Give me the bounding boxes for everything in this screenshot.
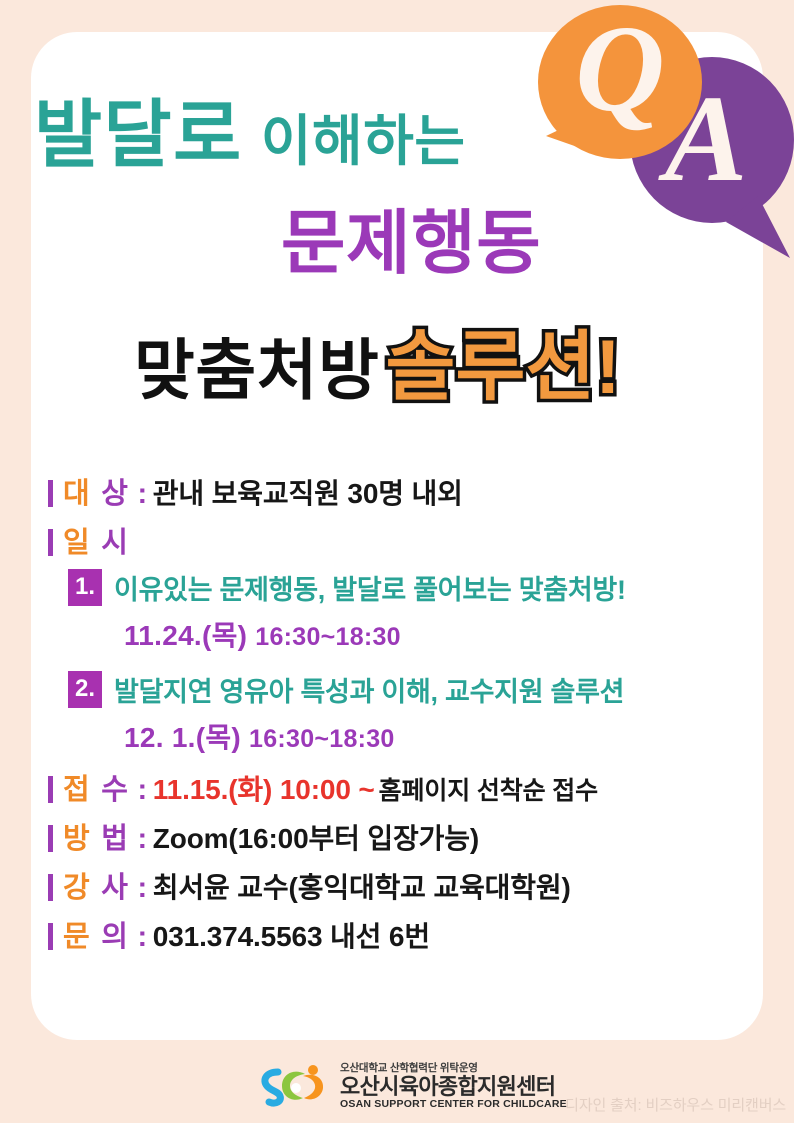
info-label-contact: 문의: — [63, 913, 153, 955]
info-row-method: 방법: Zoom(16:00부터 입장가능) — [0, 815, 794, 857]
info-row-target: 대상: 관내 보육교직원 30명 내외 — [0, 470, 794, 512]
title-word-solution: 솔루션! — [386, 325, 621, 410]
bullet-bar-icon — [48, 825, 53, 852]
session-1-datetime: 11.24.(목) 16:30~18:30 — [68, 614, 794, 654]
session-1-date: 11.24.(목) — [124, 620, 247, 651]
session-item-2: 2. 발달지연 영유아 특성과 이해, 교수지원 솔루션 12. 1.(목) 1… — [0, 670, 794, 756]
session-2-datetime: 12. 1.(목) 16:30~18:30 — [68, 716, 794, 756]
info-block: 대상: 관내 보육교직원 30명 내외 일시 1. 이유있는 문제행동, 발달로… — [0, 470, 794, 962]
info-value-registration-date: 11.15.(화) 10:00 ~ — [153, 768, 375, 808]
bullet-bar-icon — [48, 874, 53, 901]
title-word-baldallo: 발달로 — [34, 93, 243, 176]
bullet-bar-icon — [48, 529, 53, 556]
title-line-3: 맞춤처방솔루션! — [134, 330, 621, 406]
info-value-method: Zoom(16:00부터 입장가능) — [153, 817, 479, 857]
logo-text-group: 오산대학교 산학협력단 위탁운영 오산시육아종합지원센터 OSAN SUPPOR… — [340, 1063, 567, 1109]
info-value-target: 관내 보육교직원 30명 내외 — [153, 472, 463, 512]
session-2-title: 발달지연 영유아 특성과 이해, 교수지원 솔루션 — [114, 670, 624, 709]
info-label-datetime: 일시 — [63, 519, 129, 561]
info-label-registration: 접수: — [63, 766, 153, 808]
footer: 오산대학교 산학협력단 위탁운영 오산시육아종합지원센터 OSAN SUPPOR… — [0, 1058, 794, 1123]
info-label-lecturer: 강사: — [63, 864, 153, 906]
logo-main-line: 오산시육아종합지원센터 — [340, 1076, 567, 1098]
session-1-number-badge: 1. — [68, 569, 102, 606]
info-row-registration: 접수: 11.15.(화) 10:00 ~ 홈페이지 선착순 접수 — [0, 766, 794, 808]
info-row-contact: 문의: 031.374.5563 내선 6번 — [0, 913, 794, 955]
session-1-time: 16:30~18:30 — [255, 623, 401, 651]
info-label-target: 대상: — [63, 470, 153, 512]
center-logo: 오산대학교 산학협력단 위탁운영 오산시육아종합지원센터 OSAN SUPPOR… — [258, 1062, 567, 1110]
logo-english-line: OSAN SUPPORT CENTER FOR CHILDCARE — [340, 1099, 567, 1110]
title-line-1: 발달로 이해하는 — [34, 98, 466, 172]
session-1-title: 이유있는 문제행동, 발달로 풀어보는 맞춤처방! — [114, 568, 626, 607]
info-value-lecturer: 최서윤 교수(홍익대학교 교육대학원) — [153, 866, 571, 906]
info-label-method: 방법: — [63, 815, 153, 857]
title-word-machum: 맞춤처방 — [134, 333, 380, 407]
design-credit: 디자인 출처: 비즈하우스 미리캔버스 — [565, 1094, 786, 1115]
info-value-registration-note: 홈페이지 선착순 접수 — [379, 777, 598, 805]
session-2-head: 2. 발달지연 영유아 특성과 이해, 교수지원 솔루션 — [68, 670, 794, 709]
logo-sub-line: 오산대학교 산학협력단 위탁운영 — [340, 1063, 567, 1074]
title-line-2: 문제행동 — [281, 208, 541, 278]
bullet-bar-icon — [48, 480, 53, 507]
info-value-contact: 031.374.5563 내선 6번 — [153, 915, 430, 955]
title-word-ihaehaneun: 이해하는 — [261, 110, 466, 172]
session-1-head: 1. 이유있는 문제행동, 발달로 풀어보는 맞춤처방! — [68, 568, 794, 607]
session-2-date: 12. 1.(목) — [124, 722, 241, 753]
session-2-time: 16:30~18:30 — [249, 725, 395, 753]
session-2-number-badge: 2. — [68, 671, 102, 708]
bullet-bar-icon — [48, 776, 53, 803]
info-row-lecturer: 강사: 최서윤 교수(홍익대학교 교육대학원) — [0, 864, 794, 906]
info-row-datetime: 일시 — [0, 519, 794, 561]
session-item-1: 1. 이유있는 문제행동, 발달로 풀어보는 맞춤처방! 11.24.(목) 1… — [0, 568, 794, 654]
osan-logo-icon — [258, 1062, 334, 1110]
bullet-bar-icon — [48, 923, 53, 950]
